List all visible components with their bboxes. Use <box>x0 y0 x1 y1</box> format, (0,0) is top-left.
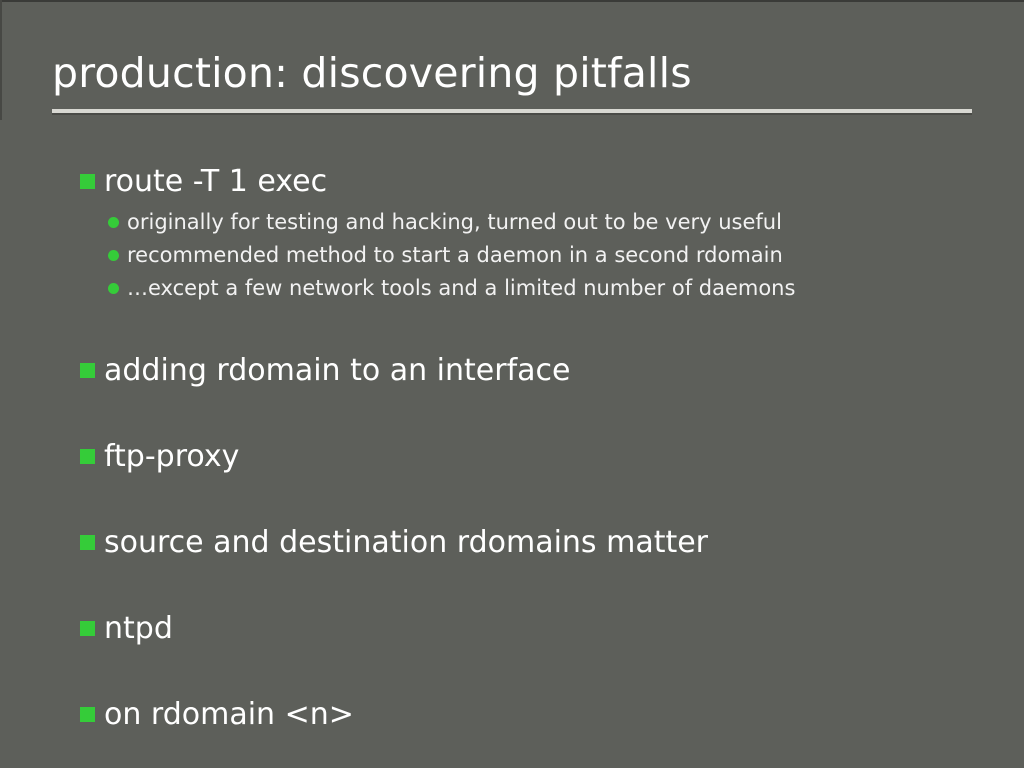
dot-bullet-icon <box>108 217 119 228</box>
dot-bullet-icon <box>108 250 119 261</box>
slide-title-block: production: discovering pitfalls <box>52 46 972 100</box>
page-title: production: discovering pitfalls <box>52 46 972 100</box>
list-item-label: source and destination rdomains matter <box>104 523 708 563</box>
title-divider <box>52 109 972 113</box>
spacer <box>80 563 980 609</box>
list-item-label: ftp-proxy <box>104 437 239 477</box>
dot-bullet-icon <box>108 283 119 294</box>
spacer <box>80 391 980 437</box>
list-item: source and destination rdomains matter <box>80 523 980 563</box>
presentation-slide: production: discovering pitfalls route -… <box>0 0 1024 768</box>
spacer <box>80 305 980 351</box>
sub-list-item: …except a few network tools and a limite… <box>80 272 980 305</box>
sub-list-item-label: recommended method to start a daemon in … <box>127 239 783 272</box>
list-item-label: route -T 1 exec <box>104 162 327 202</box>
spacer <box>80 477 980 523</box>
square-bullet-icon <box>80 535 95 550</box>
square-bullet-icon <box>80 449 95 464</box>
sub-list-item-label: …except a few network tools and a limite… <box>127 272 795 305</box>
list-item: on rdomain <n> <box>80 695 980 735</box>
list-item: ntpd <box>80 609 980 649</box>
bullet-group: route -T 1 exec originally for testing a… <box>80 162 980 305</box>
slide-body: route -T 1 exec originally for testing a… <box>80 162 980 735</box>
square-bullet-icon <box>80 363 95 378</box>
slide-left-edge <box>0 0 2 120</box>
spacer <box>80 649 980 695</box>
sub-list-item: recommended method to start a daemon in … <box>80 239 980 272</box>
list-item: ftp-proxy <box>80 437 980 477</box>
square-bullet-icon <box>80 621 95 636</box>
square-bullet-icon <box>80 707 95 722</box>
list-item: adding rdomain to an interface <box>80 351 980 391</box>
list-item: route -T 1 exec <box>80 162 980 202</box>
sub-list-item: originally for testing and hacking, turn… <box>80 206 980 239</box>
list-item-label: on rdomain <n> <box>104 695 354 735</box>
list-item-label: adding rdomain to an interface <box>104 351 570 391</box>
square-bullet-icon <box>80 174 95 189</box>
list-item-label: ntpd <box>104 609 173 649</box>
sub-list-item-label: originally for testing and hacking, turn… <box>127 206 782 239</box>
slide-top-edge <box>0 0 1024 2</box>
